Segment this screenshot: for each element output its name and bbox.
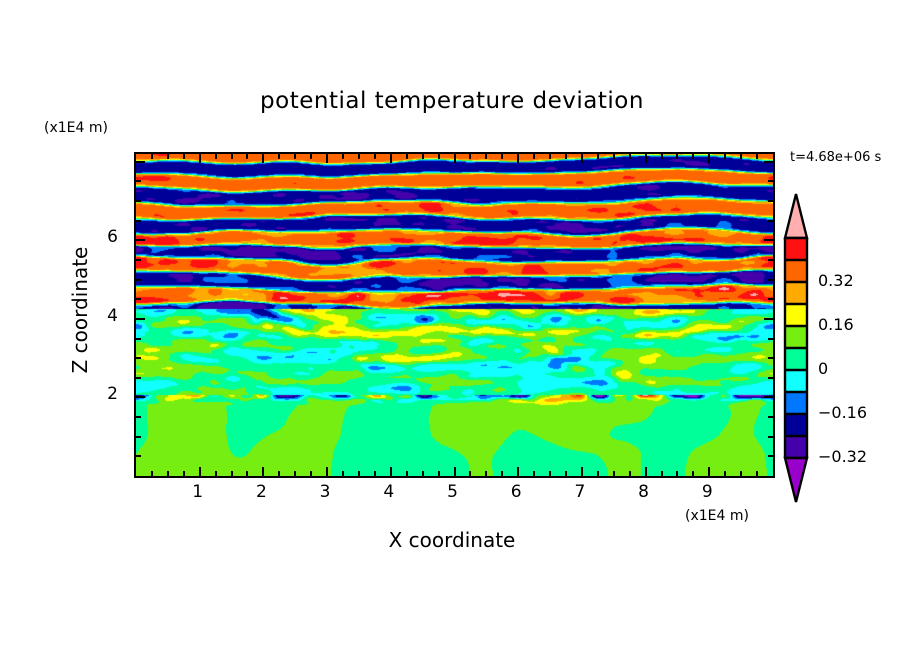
contour-plot-area[interactable] bbox=[134, 152, 775, 478]
y-tick bbox=[136, 357, 141, 359]
x-tick bbox=[454, 467, 456, 476]
x-tick bbox=[246, 471, 248, 476]
x-tick bbox=[438, 471, 440, 476]
x-tick bbox=[215, 471, 217, 476]
x-tick bbox=[358, 471, 360, 476]
y-tick bbox=[136, 259, 141, 261]
x-tick-top bbox=[199, 154, 201, 163]
x-tick-top bbox=[262, 154, 264, 163]
y-tick bbox=[136, 436, 141, 438]
x-tick bbox=[629, 471, 631, 476]
x-tick bbox=[406, 471, 408, 476]
y-tick bbox=[136, 455, 141, 457]
x-axis-unit-label: (x1E4 m) bbox=[685, 508, 749, 524]
y-tick-right bbox=[768, 200, 773, 202]
colorbar-label: 0 bbox=[818, 359, 828, 378]
x-tick bbox=[310, 471, 312, 476]
x-tick-top bbox=[246, 154, 248, 159]
x-tick-top bbox=[358, 154, 360, 159]
x-tick-top bbox=[501, 154, 503, 159]
x-tick-top bbox=[740, 154, 742, 159]
y-tick bbox=[136, 416, 141, 418]
x-tick bbox=[326, 467, 328, 476]
x-tick-top bbox=[645, 154, 647, 163]
y-tick-right bbox=[768, 220, 773, 222]
x-tick-label: 7 bbox=[560, 482, 600, 502]
x-tick-label: 4 bbox=[369, 482, 409, 502]
x-tick-top bbox=[406, 154, 408, 159]
colorbar-swatches bbox=[781, 192, 811, 504]
y-tick bbox=[136, 396, 145, 398]
y-tick bbox=[136, 279, 141, 281]
y-tick bbox=[136, 377, 141, 379]
y-tick-right bbox=[768, 259, 773, 261]
colorbar-band bbox=[785, 326, 807, 349]
x-tick-top bbox=[549, 154, 551, 159]
y-tick-right bbox=[764, 239, 773, 241]
x-tick bbox=[342, 471, 344, 476]
x-tick bbox=[549, 471, 551, 476]
x-tick bbox=[278, 471, 280, 476]
x-tick-top bbox=[724, 154, 726, 159]
x-tick-label: 5 bbox=[433, 482, 473, 502]
y-tick bbox=[136, 220, 141, 222]
colorbar-over-cap bbox=[785, 194, 807, 238]
y-tick-right bbox=[768, 377, 773, 379]
y-tick-label: 4 bbox=[78, 306, 118, 326]
x-tick-top bbox=[581, 154, 583, 163]
x-tick bbox=[740, 471, 742, 476]
x-tick-top bbox=[390, 154, 392, 163]
colorbar-band bbox=[785, 370, 807, 393]
x-tick-top bbox=[692, 154, 694, 159]
x-tick bbox=[533, 471, 535, 476]
x-tick bbox=[581, 467, 583, 476]
y-tick-label: 2 bbox=[78, 384, 118, 404]
x-tick-top bbox=[613, 154, 615, 159]
y-tick-right bbox=[768, 416, 773, 418]
x-tick bbox=[374, 471, 376, 476]
y-tick-right bbox=[768, 357, 773, 359]
x-tick-label: 1 bbox=[178, 482, 218, 502]
x-tick bbox=[613, 471, 615, 476]
colorbar-label: 0.32 bbox=[818, 271, 854, 290]
x-tick-top bbox=[533, 154, 535, 159]
x-tick bbox=[183, 471, 185, 476]
x-tick-top bbox=[151, 154, 153, 159]
colorbar-band bbox=[785, 304, 807, 327]
x-tick bbox=[390, 467, 392, 476]
y-tick-label: 6 bbox=[78, 227, 118, 247]
colorbar-band bbox=[785, 414, 807, 437]
x-tick-top bbox=[756, 154, 758, 159]
x-tick-label: 3 bbox=[305, 482, 345, 502]
x-tick-top bbox=[342, 154, 344, 159]
y-tick-right bbox=[768, 180, 773, 182]
x-tick bbox=[262, 467, 264, 476]
x-tick-top bbox=[167, 154, 169, 159]
colorbar-band bbox=[785, 392, 807, 415]
x-tick-label: 9 bbox=[687, 482, 727, 502]
colorbar-label: 0.16 bbox=[818, 315, 854, 334]
colorbar-band bbox=[785, 260, 807, 283]
x-tick-top bbox=[215, 154, 217, 159]
timestamp-label: t=4.68e+06 s bbox=[790, 150, 881, 165]
y-tick bbox=[136, 239, 145, 241]
x-tick-top bbox=[629, 154, 631, 159]
y-tick-right bbox=[764, 318, 773, 320]
y-tick-right bbox=[768, 436, 773, 438]
x-tick bbox=[708, 467, 710, 476]
y-tick-right bbox=[768, 298, 773, 300]
x-tick bbox=[167, 471, 169, 476]
x-tick bbox=[724, 471, 726, 476]
y-tick-right bbox=[768, 455, 773, 457]
x-tick-top bbox=[454, 154, 456, 163]
y-tick bbox=[136, 161, 145, 163]
x-tick-top bbox=[183, 154, 185, 159]
x-tick bbox=[199, 467, 201, 476]
x-tick-top bbox=[231, 154, 233, 159]
x-tick-top bbox=[469, 154, 471, 159]
x-tick-top bbox=[438, 154, 440, 159]
x-tick bbox=[565, 471, 567, 476]
y-tick-right bbox=[764, 161, 773, 163]
x-tick bbox=[676, 471, 678, 476]
colorbar-band bbox=[785, 282, 807, 305]
x-tick bbox=[485, 471, 487, 476]
x-tick-top bbox=[517, 154, 519, 163]
x-tick-top bbox=[422, 154, 424, 159]
x-tick bbox=[422, 471, 424, 476]
x-tick-top bbox=[597, 154, 599, 159]
y-tick bbox=[136, 200, 141, 202]
x-tick bbox=[294, 471, 296, 476]
x-tick bbox=[231, 471, 233, 476]
x-tick-top bbox=[708, 154, 710, 163]
page-title: potential temperature deviation bbox=[0, 88, 904, 114]
x-tick bbox=[756, 471, 758, 476]
y-tick-right bbox=[768, 279, 773, 281]
x-tick bbox=[597, 471, 599, 476]
figure-container: potential temperature deviation (x1E4 m)… bbox=[0, 0, 904, 654]
y-tick bbox=[136, 338, 141, 340]
x-axis-title: X coordinate bbox=[0, 528, 904, 552]
x-tick bbox=[645, 467, 647, 476]
x-tick bbox=[501, 471, 503, 476]
y-tick bbox=[136, 298, 141, 300]
y-tick bbox=[136, 180, 141, 182]
x-tick-top bbox=[661, 154, 663, 159]
x-tick-top bbox=[310, 154, 312, 159]
x-tick bbox=[661, 471, 663, 476]
x-tick-top bbox=[326, 154, 328, 163]
colorbar-band bbox=[785, 348, 807, 371]
colorbar-label: −0.32 bbox=[818, 447, 867, 466]
x-tick-top bbox=[565, 154, 567, 159]
y-tick-right bbox=[764, 396, 773, 398]
colorbar-band bbox=[785, 238, 807, 261]
colorbar[interactable] bbox=[781, 192, 811, 504]
colorbar-label: −0.16 bbox=[818, 403, 867, 422]
x-tick-label: 8 bbox=[624, 482, 664, 502]
x-tick-label: 2 bbox=[241, 482, 281, 502]
contour-field-canvas bbox=[136, 154, 773, 476]
y-tick-right bbox=[768, 338, 773, 340]
x-tick-top bbox=[278, 154, 280, 159]
x-tick bbox=[692, 471, 694, 476]
x-tick-top bbox=[294, 154, 296, 159]
y-tick bbox=[136, 318, 145, 320]
x-tick bbox=[469, 471, 471, 476]
x-tick-label: 6 bbox=[496, 482, 536, 502]
x-tick-top bbox=[374, 154, 376, 159]
colorbar-under-cap bbox=[785, 458, 807, 502]
x-tick bbox=[151, 471, 153, 476]
colorbar-band bbox=[785, 436, 807, 459]
x-tick bbox=[517, 467, 519, 476]
x-tick-top bbox=[485, 154, 487, 159]
y-axis-unit-label: (x1E4 m) bbox=[44, 120, 108, 136]
x-tick-top bbox=[676, 154, 678, 159]
